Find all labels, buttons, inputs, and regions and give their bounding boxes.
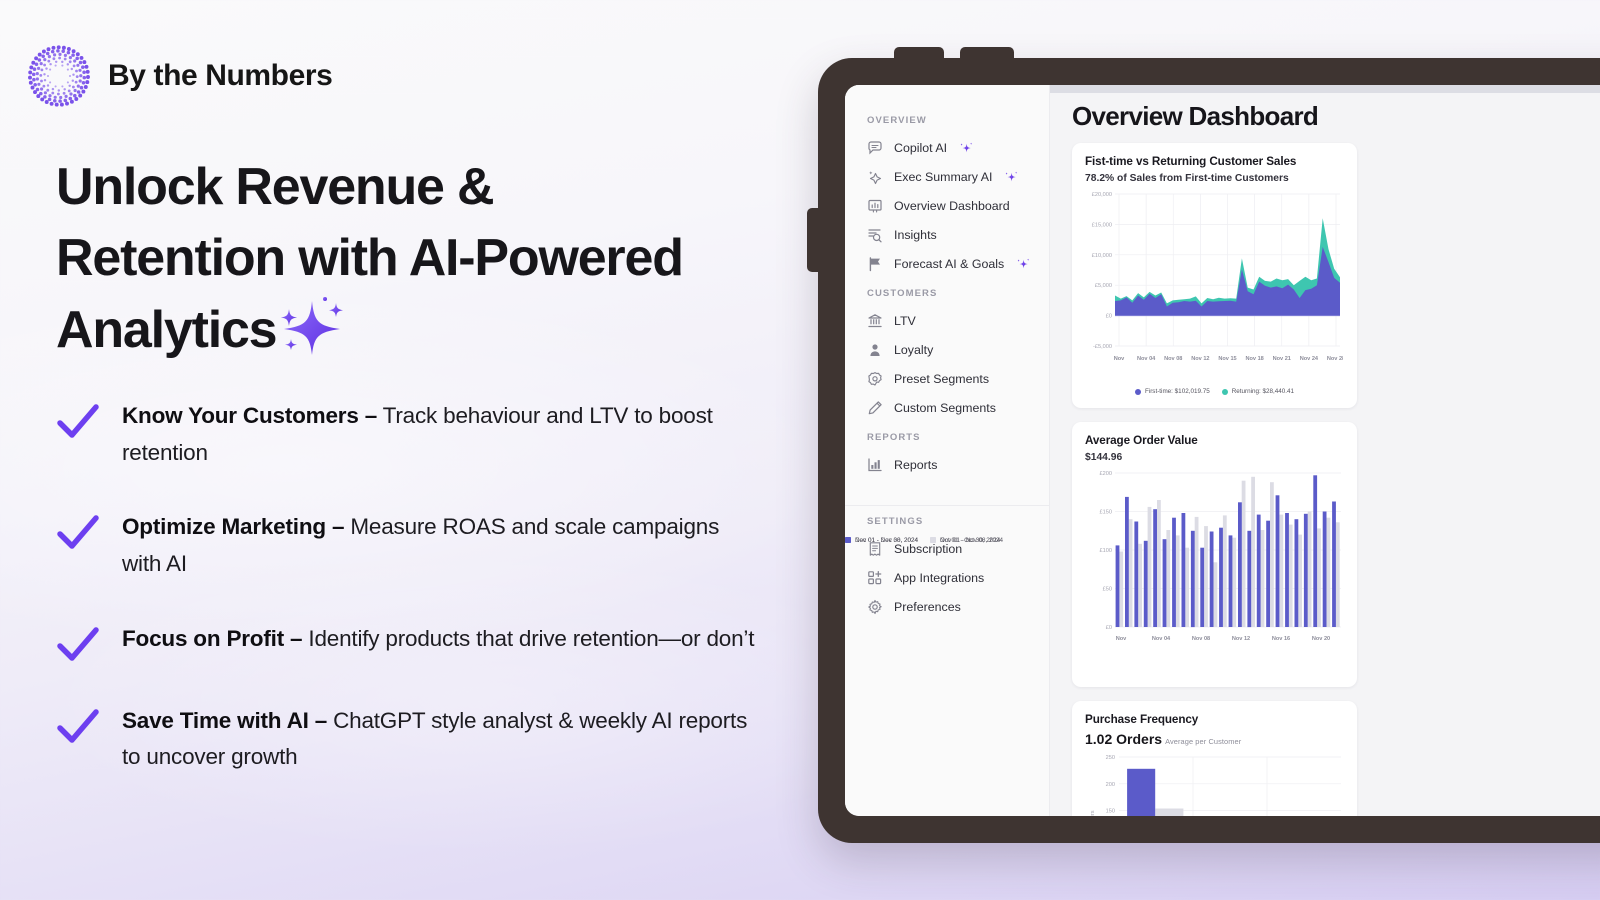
dashboard-main: Overview Dashboard Fist-time vs Returnin… [1050, 85, 1600, 816]
list-item: Focus on Profit – Identify products that… [56, 621, 756, 665]
volume-up-button[interactable] [894, 47, 944, 61]
chart-legend: Dec 01 - Dec 08, 2024 Nov 01 - Nov 08, 2… [1050, 90, 1600, 816]
check-icon [56, 402, 100, 442]
benefit-title: Know Your Customers – [122, 403, 377, 428]
list-item: Know Your Customers – Track behaviour an… [56, 398, 756, 471]
tablet-screen: OVERVIEW Copilot AI Exec Summary AI Over… [845, 85, 1600, 816]
card-purchase-frequency[interactable]: Purchase Frequency 1.02 OrdersAverage pe… [1072, 701, 1357, 816]
list-item: Optimize Marketing – Measure ROAS and sc… [56, 509, 756, 582]
benefit-title: Save Time with AI – [122, 708, 327, 733]
headline-line-2: Retention with AI-Powered [56, 229, 683, 287]
brand-name: By the Numbers [108, 59, 332, 93]
check-icon [56, 513, 100, 553]
hero-panel: By the Numbers Unlock Revenue & Retentio… [0, 0, 820, 900]
benefit-title: Focus on Profit – [122, 626, 302, 651]
dotted-spiral-logo-icon [28, 45, 90, 107]
tablet-mockup: OVERVIEW Copilot AI Exec Summary AI Over… [818, 58, 1600, 843]
check-icon [56, 625, 100, 665]
benefit-title: Optimize Marketing – [122, 514, 344, 539]
headline-line-3: Analytics [56, 301, 276, 359]
volume-down-button[interactable] [960, 47, 1014, 61]
headline-line-1: Unlock Revenue & [56, 158, 493, 216]
tablet-frame: OVERVIEW Copilot AI Exec Summary AI Over… [818, 58, 1600, 843]
page-title: Unlock Revenue & Retention with AI-Power… [56, 152, 796, 378]
check-icon [56, 707, 100, 747]
sparkle-star-icon [272, 293, 348, 378]
benefit-text: Identify products that drive retention—o… [302, 626, 754, 651]
power-button[interactable] [807, 208, 821, 272]
list-item: Save Time with AI – ChatGPT style analys… [56, 703, 756, 776]
brand-logo: By the Numbers [28, 45, 332, 107]
benefit-list: Know Your Customers – Track behaviour an… [56, 398, 756, 814]
